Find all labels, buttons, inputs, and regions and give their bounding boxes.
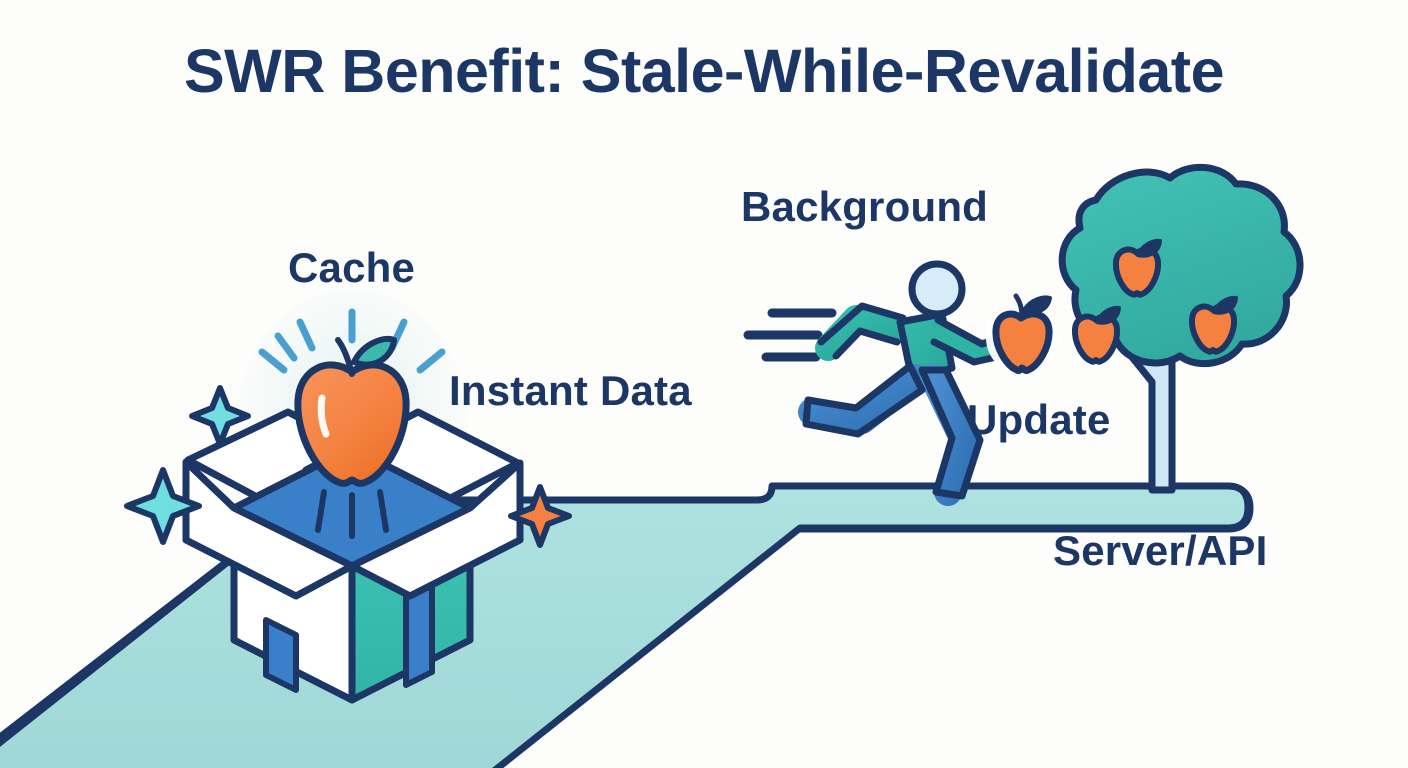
- label-instant-data: Instant Data: [449, 367, 692, 415]
- runner-apple-icon: [986, 296, 1058, 374]
- runner-head: [912, 264, 962, 314]
- box-door: [266, 620, 296, 690]
- runner-figure-group: [748, 264, 1058, 496]
- label-background: Background: [741, 183, 988, 231]
- tree-apple-2: [1075, 308, 1119, 362]
- illustration-canvas: SWR Benefit: Stale-While-Revalidate Cach…: [0, 0, 1408, 768]
- page-title: SWR Benefit: Stale-While-Revalidate: [0, 36, 1408, 106]
- label-update: Update: [967, 396, 1111, 444]
- tree-apple-3: [1192, 298, 1236, 352]
- tree-apple-1: [1116, 241, 1160, 295]
- label-cache: Cache: [288, 244, 415, 292]
- label-server-api: Server/API: [1053, 527, 1267, 575]
- swr-diagram-artwork: [0, 0, 1408, 768]
